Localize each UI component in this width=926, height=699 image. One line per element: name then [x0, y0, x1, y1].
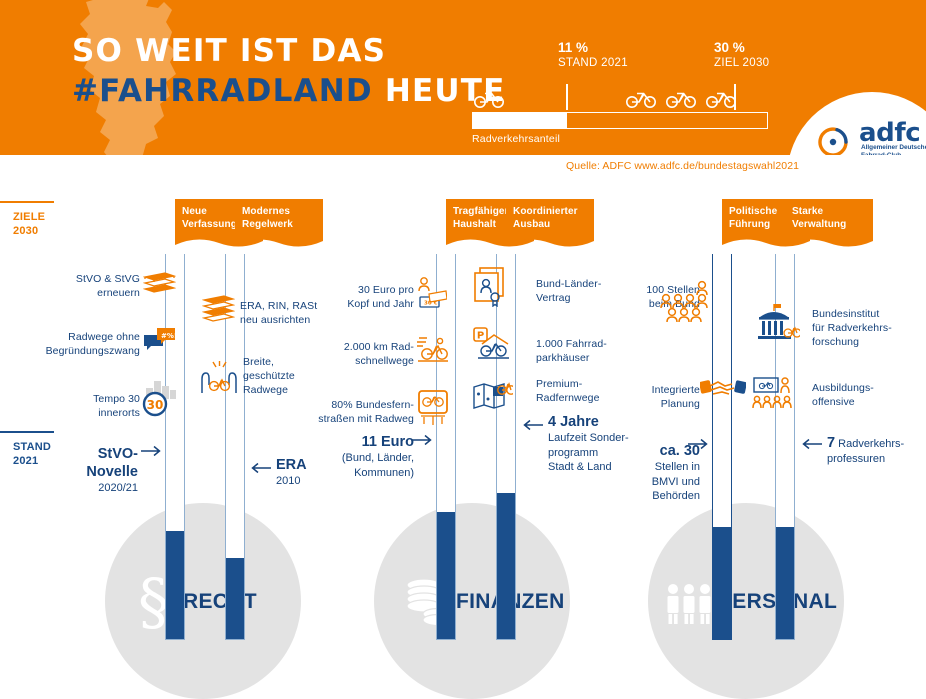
adfc-tagline-line-1: Allgemeiner Deutscher — [861, 144, 926, 152]
people-group-icon — [650, 280, 712, 332]
bike-road-sign-icon — [417, 390, 449, 426]
flag-5-label: PolitischeFührung — [729, 205, 793, 231]
bar-2-fill — [226, 558, 244, 639]
protecting-hands-bike-icon — [200, 361, 238, 395]
law-books-icon — [143, 271, 176, 297]
bar-3-base-line-1: 11 Euro — [296, 433, 414, 451]
contract-seal-icon — [473, 267, 509, 307]
goal-3-2-label: 2.000 km Rad-schnellwege — [310, 340, 414, 368]
group-title-recht: RECHT — [183, 590, 257, 614]
page-title: SO WEIT IST DAS #FAHRRADLAND HEUTE — [72, 34, 505, 108]
svg-text:30: 30 — [147, 398, 164, 412]
rule-books-icon — [202, 295, 235, 323]
adfc-circle-logo-icon — [813, 122, 853, 155]
bar-4-arrow-left — [521, 419, 543, 431]
bar-4-koordinierter-ausbau — [496, 254, 516, 640]
bar-4-fill — [497, 493, 515, 639]
radverkehrsanteil-widget: 11 % STAND 2021 30 % ZIEL 2030 — [472, 40, 772, 86]
bar-2-arrow-left — [249, 462, 271, 474]
target-share-caption: ZIEL 2030 — [714, 56, 769, 70]
bar-5-arrow-right — [688, 438, 710, 450]
speech-bubble-icon: #%! — [143, 327, 176, 351]
bar-3-arrow-right — [412, 434, 434, 446]
share-caption: Radverkehrsanteil — [472, 133, 560, 145]
bar-1-base-callout: StVO- Novelle 2020/21 — [40, 445, 138, 496]
bar-1-arrow-right — [141, 445, 163, 457]
bar-4-base-line-1: 4 Jahre — [548, 413, 668, 431]
fast-cyclist-icon — [417, 337, 449, 365]
bar-3-base-line-2: (Bund, Länder, — [296, 451, 414, 466]
axis-label-ziele: ZIELE 2030 — [13, 210, 45, 238]
bar-5-base-line-2: Stellen in — [606, 460, 700, 475]
bar-6-base-callout: 7 Radverkehrs- professuren — [827, 434, 926, 467]
bar-6-arrow-left — [800, 438, 822, 450]
goal-1-2-label: Radwege ohneBegründungszwang — [18, 330, 140, 358]
bicycle-icons-row — [472, 86, 772, 112]
adfc-tagline: Allgemeiner Deutscher Fahrrad-Club — [861, 144, 926, 155]
bar-5-fill — [713, 527, 731, 639]
target-share-value: 30 % — [714, 40, 769, 56]
header-banner: SO WEIT IST DAS #FAHRRADLAND HEUTE 11 % … — [0, 0, 926, 155]
bar-3-base-line-3: Kommunen) — [296, 466, 414, 481]
speed-limit-30-icon: 30 — [140, 379, 177, 417]
bar-1-fill — [166, 531, 184, 639]
target-share-label: 30 % ZIEL 2030 — [714, 40, 769, 70]
bar-1-base-line-2: Novelle — [40, 463, 138, 481]
bar-1-neue-verfassung — [165, 254, 185, 640]
current-share-value: 11 % — [558, 40, 628, 56]
bar-5-base-line-3: BMVI und — [606, 475, 700, 490]
axis-ziele-line-1: ZIELE — [13, 210, 45, 224]
current-share-caption: STAND 2021 — [558, 56, 628, 70]
chart-area: ZIELE 2030 STAND 2021 § RECHT FINANZEN — [0, 155, 926, 655]
training-board-icon — [752, 377, 800, 409]
svg-text:30 €: 30 € — [424, 301, 438, 307]
bar-6-base-line-2: professuren — [827, 452, 926, 467]
bar-top-labels: 11 % STAND 2021 30 % ZIEL 2030 — [472, 40, 772, 86]
bar-3-fill — [437, 512, 455, 639]
bar-3-tragfaehiger-haushalt — [436, 254, 456, 640]
axis-ziele-line-2: 2030 — [13, 224, 45, 238]
goal-6-2-label: Ausbildungs-offensive — [812, 381, 922, 409]
flag-6-label: StarkeVerwaltung — [792, 205, 856, 231]
bar-6-base-line-1: 7 Radverkehrs- — [827, 434, 926, 452]
handshake-icon — [700, 377, 746, 401]
share-progress-track — [472, 112, 768, 129]
goal-3-3-label: 80% Bundesfern-straßen mit Radweg — [298, 398, 414, 426]
map-bike-icon — [473, 381, 513, 411]
goal-1-1-label: StVO & StVGerneuern — [36, 272, 140, 300]
adfc-logo: adfc Allgemeiner Deutscher Fahrrad-Club — [787, 92, 926, 155]
title-line-1: SO WEIT IST DAS — [72, 34, 505, 68]
goal-6-1-label: Bundesinstitutfür Radverkehrs-forschung — [812, 307, 922, 349]
title-hashtag: #FAHRRADLAND — [72, 73, 373, 109]
bar-5-base-line-4: Behörden — [606, 489, 700, 504]
infographic-root: SO WEIT IST DAS #FAHRRADLAND HEUTE 11 % … — [0, 0, 926, 655]
bar-5-base-callout: ca. 30 Stellen in BMVI und Behörden — [606, 442, 700, 504]
bar-1-base-line-3: 2020/21 — [40, 481, 138, 496]
bike-parking-garage-icon: P — [473, 327, 511, 361]
tick-current — [566, 84, 568, 110]
tick-target — [734, 84, 736, 110]
goal-1-3-label: Tempo 30innerorts — [44, 392, 140, 420]
share-progress-fill — [473, 113, 567, 128]
bar-6-fill — [776, 527, 794, 639]
svg-text:P: P — [477, 331, 484, 342]
goal-4-2-label: 1.000 Fahrrad-parkhäuser — [536, 337, 654, 365]
institute-building-bike-icon — [750, 303, 800, 345]
title-line-2: #FAHRRADLAND HEUTE — [72, 74, 505, 108]
svg-text:#%!: #%! — [161, 332, 176, 340]
bar-5-politische-fuehrung — [712, 254, 732, 640]
current-share-label: 11 % STAND 2021 — [558, 40, 628, 70]
people-icon — [665, 583, 713, 627]
goal-3-1-label: 30 Euro proKopf und Jahr — [310, 283, 414, 311]
bar-1-base-line-1: StVO- — [40, 445, 138, 463]
money-person-icon: 30 € — [417, 277, 447, 309]
bar-3-base-callout: 11 Euro (Bund, Länder, Kommunen) — [296, 433, 414, 480]
adfc-logo-inner: adfc Allgemeiner Deutscher Fahrrad-Club — [813, 122, 926, 155]
ziele-rule — [0, 201, 54, 203]
flag-2-label: ModernesRegelwerk — [242, 205, 306, 231]
stand-rule — [0, 431, 54, 433]
goal-5-2-label: IntegriertePlanung — [608, 383, 700, 411]
flag-4-label: KoordinierterAusbau — [513, 205, 577, 231]
bar-5-base-line-1: ca. 30 — [606, 442, 700, 460]
